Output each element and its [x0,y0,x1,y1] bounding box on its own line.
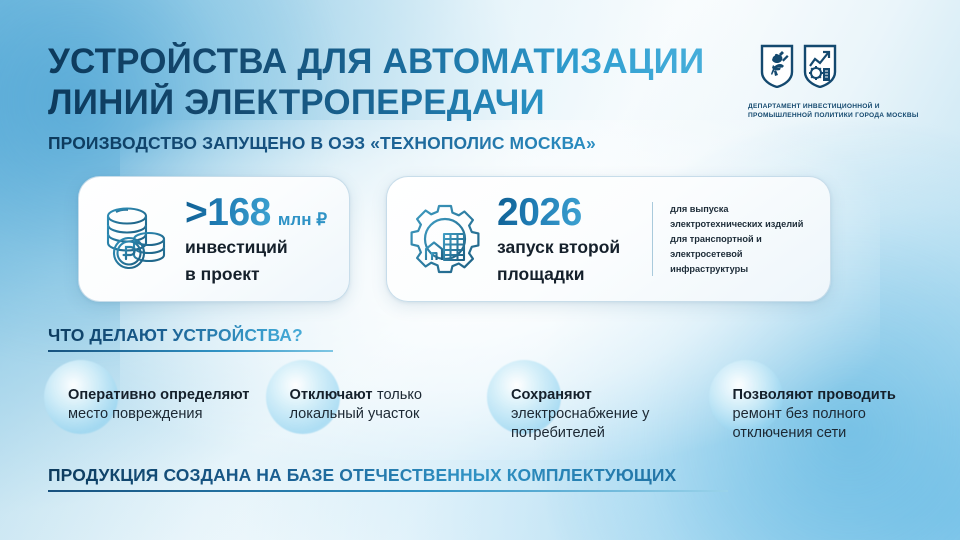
page-title-line-1: УСТРОЙСТВА ДЛЯ АВТОМАТИЗАЦИИ [48,42,748,83]
logo-caption: ДЕПАРТАМЕНТ ИНВЕСТИЦИОННОЙ И ПРОМЫШЛЕННО… [748,102,920,121]
list-item-rest: ремонт без полного отключения сети [733,406,866,441]
list-item: Сохраняют электроснабжение у потребителе… [487,360,709,443]
list-item-body: Сохраняют электроснабжение у потребителе… [511,386,699,443]
section-heading-text: ЧТО ДЕЛАЮТ УСТРОЙСТВА? [48,325,333,346]
list-item: Оперативно определяют место повреждения [44,360,266,443]
logo-block: ДЕПАРТАМЕНТ ИНВЕСТИЦИОННОЙ И ПРОМЫШЛЕННО… [748,44,920,121]
section-heading: ЧТО ДЕЛАЮТ УСТРОЙСТВА? [48,325,333,352]
stat-number: >168 [185,193,271,232]
stat-value-row: >168 млн ₽ [185,193,327,232]
list-item-strong: Сохраняют [511,387,592,403]
stat-number: 2026 [497,193,582,232]
stat-cards: >168 млн ₽ инвестиций в проект [78,176,831,302]
stat-card-launch-text: 2026 запуск второй площадки [497,193,620,285]
stat-label-line-1: инвестиций [185,237,327,259]
list-item-strong: Позволяют проводить [733,387,896,403]
list-item-strong: Отключают [290,387,373,403]
header: УСТРОЙСТВА ДЛЯ АВТОМАТИЗАЦИИ ЛИНИЙ ЭЛЕКТ… [48,42,748,154]
gear-factory-icon [409,202,483,276]
stat-card-investment-text: >168 млн ₽ инвестиций в проект [185,193,327,285]
section-heading-underline [48,350,333,352]
stat-value-row: 2026 [497,193,620,232]
list-item-rest: электроснабжение у потребителей [511,406,649,441]
footer-text: ПРОДУКЦИЯ СОЗДАНА НА БАЗЕ ОТЕЧЕСТВЕННЫХ … [48,465,728,486]
stat-label-line-1: запуск второй [497,237,620,259]
footer-underline [48,490,728,492]
feature-list: Оперативно определяют место повреждения … [44,360,930,443]
page-subtitle: ПРОИЗВОДСТВО ЗАПУЩЕНО В ОЭЗ «ТЕХНОПОЛИС … [48,133,748,154]
list-item-body: Оперативно определяют место повреждения [68,386,256,424]
list-item-body: Позволяют проводить ремонт без полного о… [733,386,921,443]
stat-label-line-2: площадки [497,264,620,286]
list-item: Отключают только локальный участок [266,360,488,443]
logo-emblems [760,44,920,93]
infographic-poster: УСТРОЙСТВА ДЛЯ АВТОМАТИЗАЦИИ ЛИНИЙ ЭЛЕКТ… [0,0,960,540]
stat-label-line-2: в проект [185,264,327,286]
list-item-body: Отключают только локальный участок [290,386,478,424]
list-item-rest: место повреждения [68,406,203,422]
stat-card-aside-note: для выпуска электротехнических изделий д… [652,202,808,277]
list-item-strong: Оперативно определяют [68,387,249,403]
department-shield-icon [803,44,837,93]
coins-ruble-icon [101,203,171,275]
footer: ПРОДУКЦИЯ СОЗДАНА НА БАЗЕ ОТЕЧЕСТВЕННЫХ … [48,465,728,492]
stat-unit: млн ₽ [278,211,327,228]
stat-card-launch: 2026 запуск второй площадки для выпуска … [386,176,831,302]
page-title-line-2: ЛИНИЙ ЭЛЕКТРОПЕРЕДАЧИ [48,83,748,124]
stat-card-investment: >168 млн ₽ инвестиций в проект [78,176,350,302]
list-item: Позволяют проводить ремонт без полного о… [709,360,931,443]
moscow-coat-of-arms-icon [760,44,794,93]
